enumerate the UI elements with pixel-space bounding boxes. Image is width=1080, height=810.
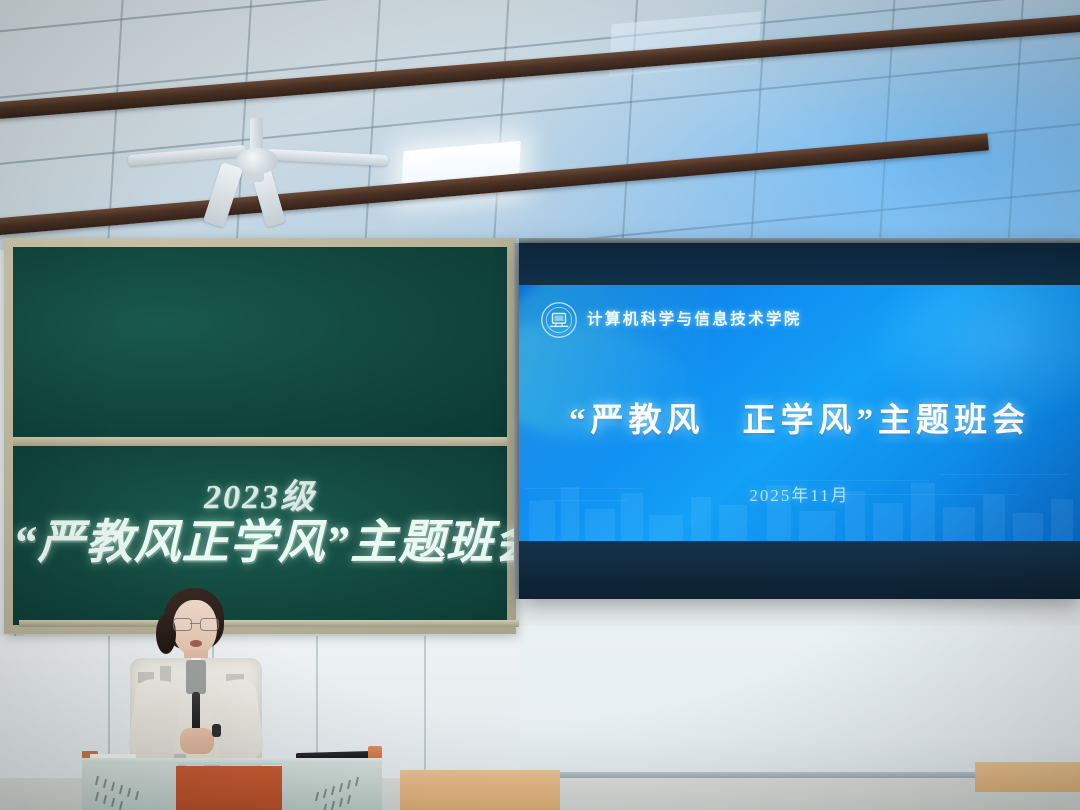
- wristwatch: [212, 724, 221, 737]
- blackboard-divider: [13, 437, 507, 446]
- blackboard-text-line2: “严教风正学风”主题班会: [13, 503, 507, 572]
- blackboard-upper-panel: [13, 247, 507, 437]
- slide-department-label: 计算机科学与信息技术学院: [587, 307, 802, 329]
- computer-monitor-emblem-icon: [540, 301, 578, 339]
- ceiling-fan-icon: [188, 118, 398, 228]
- podium: [82, 752, 382, 810]
- presenter: [128, 588, 264, 778]
- ceiling: [0, 0, 1080, 258]
- presentation-slide: 计算机科学与信息技术学院 “严教风 正学风”主题班会 2025年11月: [519, 285, 1080, 541]
- hands: [180, 728, 214, 754]
- screen-band-top: [519, 243, 1080, 285]
- projection-screen[interactable]: 计算机科学与信息技术学院 “严教风 正学风”主题班会 2025年11月: [519, 243, 1080, 599]
- podium-left-panel: [82, 762, 178, 810]
- blackboard: 2023级 “严教风正学风”主题班会: [4, 238, 516, 634]
- slide-title: “严教风 正学风”主题班会: [519, 393, 1080, 441]
- inner-shirt: [186, 660, 206, 694]
- mouth: [190, 640, 202, 647]
- glasses-icon: [173, 618, 217, 629]
- podium-right-panel: [282, 762, 382, 810]
- desk-surface: [400, 770, 560, 810]
- classroom-photo: 2023级 “严教风正学风”主题班会: [0, 0, 1080, 810]
- podium-front-panel: [176, 766, 284, 810]
- chalk-tray: [19, 620, 519, 627]
- slide-date: 2025年11月: [519, 481, 1080, 506]
- screen-band-bottom: [519, 541, 1080, 599]
- desk-surface: [975, 762, 1080, 792]
